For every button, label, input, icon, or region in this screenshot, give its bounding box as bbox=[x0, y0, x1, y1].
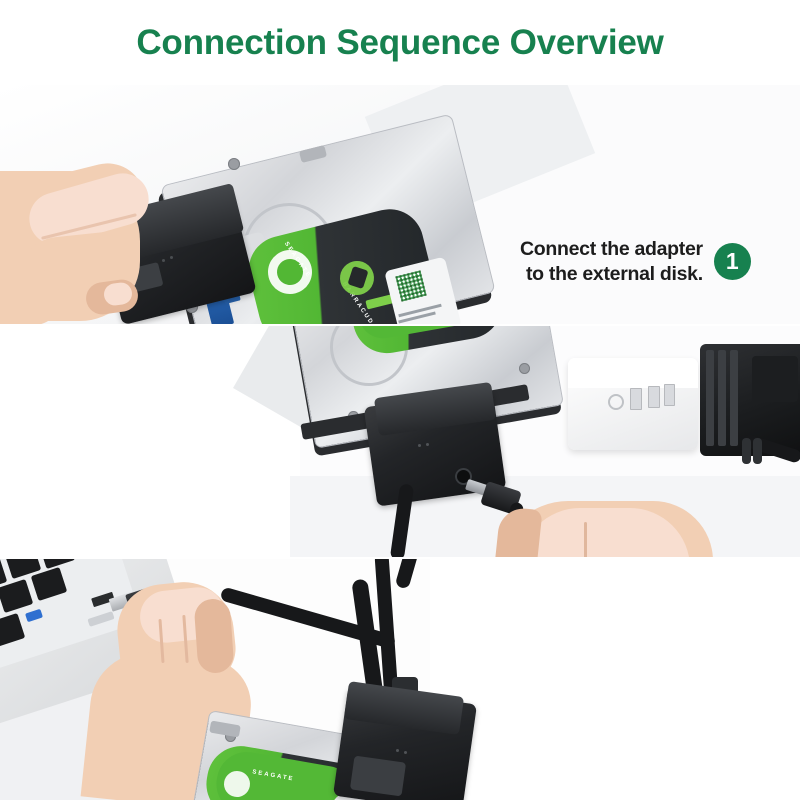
infographic-page: Connection Sequence Overview SEAGATE BAR… bbox=[0, 0, 800, 800]
step-1-badge: 1 bbox=[714, 243, 751, 280]
step-1-line-1: Connect the adapter bbox=[520, 238, 703, 260]
page-title: Connection Sequence Overview bbox=[136, 25, 663, 60]
step-1-line-2: to the external disk. bbox=[520, 262, 703, 287]
step-panel-2: SEAGATE bbox=[0, 326, 800, 557]
step-panel-1: SEAGATE BARRACUDA bbox=[0, 85, 800, 324]
step-3-photo: SEAGATE bbox=[0, 559, 800, 800]
usb-port bbox=[630, 388, 642, 410]
panel-divider-2 bbox=[0, 557, 800, 559]
step-1-photo: SEAGATE BARRACUDA bbox=[0, 85, 800, 324]
step-1-text: Connect the adapter to the external disk… bbox=[520, 237, 703, 287]
step-panel-3: SEAGATE Plug in the USB porton PC/laptop… bbox=[0, 559, 800, 800]
page-header: Connection Sequence Overview bbox=[0, 0, 800, 85]
usb-port bbox=[648, 386, 660, 408]
panel-divider-1 bbox=[0, 324, 800, 326]
step-1-callout: Connect the adapter to the external disk… bbox=[520, 237, 751, 287]
usb-port bbox=[664, 384, 675, 406]
step-2-photo: SEAGATE bbox=[0, 326, 800, 557]
